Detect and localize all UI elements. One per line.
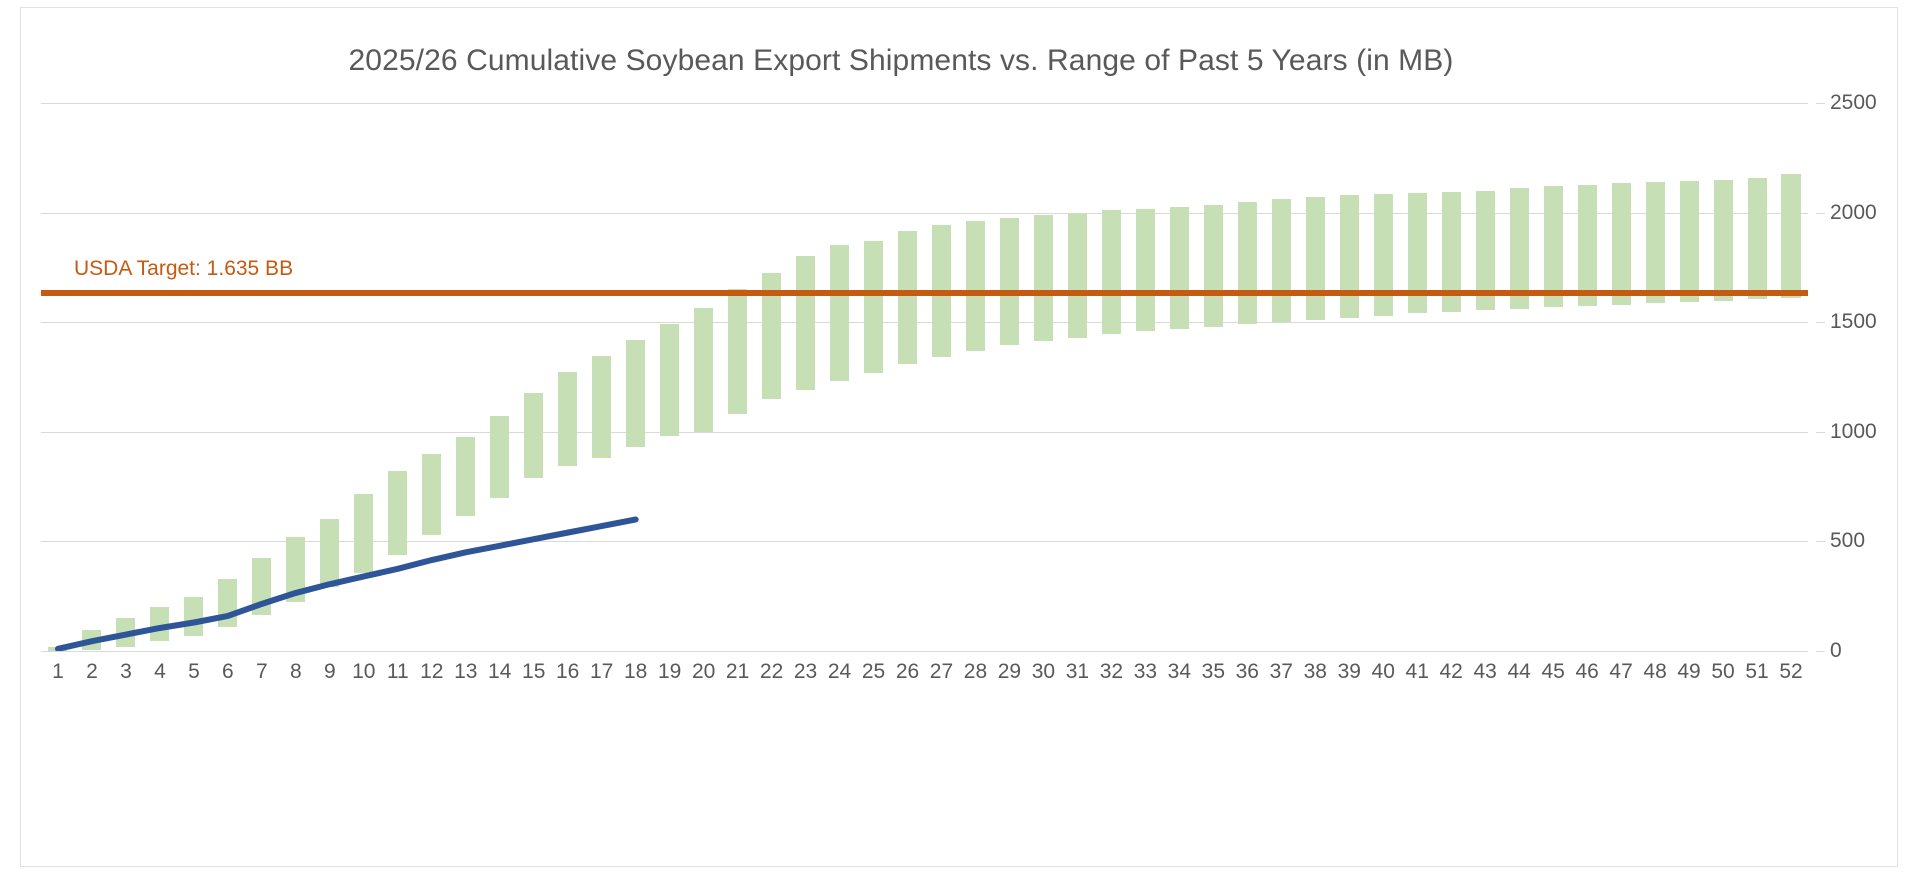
x-tick-label-week-11: 11 (387, 660, 409, 684)
x-tick-label-week-24: 24 (828, 660, 851, 684)
y-tick-mark-1000 (1816, 432, 1825, 433)
x-tick-label-week-46: 46 (1575, 660, 1598, 684)
x-tick-label-week-32: 32 (1100, 660, 1123, 684)
x-tick-label-week-19: 19 (658, 660, 681, 684)
x-tick-label-week-45: 45 (1541, 660, 1564, 684)
x-tick-label-week-33: 33 (1134, 660, 1157, 684)
x-tick-label-week-5: 5 (188, 660, 200, 684)
y-tick-label-0: 0 (1830, 639, 1842, 663)
x-tick-label-week-41: 41 (1406, 660, 1429, 684)
y-tick-label-2000: 2000 (1830, 201, 1877, 225)
x-tick-label-week-7: 7 (256, 660, 268, 684)
x-tick-label-week-51: 51 (1745, 660, 1768, 684)
x-tick-label-week-36: 36 (1236, 660, 1259, 684)
plot-area: USDA Target: 1.635 BB (41, 103, 1808, 651)
y-tick-label-2500: 2500 (1830, 91, 1877, 115)
x-tick-label-week-52: 52 (1779, 660, 1802, 684)
x-tick-label-week-42: 42 (1440, 660, 1463, 684)
x-tick-label-week-26: 26 (896, 660, 919, 684)
x-tick-label-week-15: 15 (522, 660, 545, 684)
x-tick-label-week-48: 48 (1643, 660, 1666, 684)
x-tick-label-week-21: 21 (726, 660, 749, 684)
x-tick-label-week-6: 6 (222, 660, 234, 684)
x-tick-label-week-2: 2 (86, 660, 98, 684)
x-tick-label-week-22: 22 (760, 660, 783, 684)
x-tick-label-week-37: 37 (1270, 660, 1293, 684)
x-tick-label-week-12: 12 (420, 660, 443, 684)
x-tick-label-week-27: 27 (930, 660, 953, 684)
x-tick-label-week-38: 38 (1304, 660, 1327, 684)
x-tick-label-week-47: 47 (1609, 660, 1632, 684)
chart-title: 2025/26 Cumulative Soybean Export Shipme… (21, 44, 1781, 78)
x-tick-label-week-13: 13 (454, 660, 477, 684)
y-tick-mark-500 (1816, 541, 1825, 542)
chart-card: 2025/26 Cumulative Soybean Export Shipme… (20, 7, 1898, 867)
x-tick-label-week-18: 18 (624, 660, 647, 684)
x-tick-label-week-40: 40 (1372, 660, 1395, 684)
x-tick-label-week-3: 3 (120, 660, 132, 684)
x-tick-label-week-25: 25 (862, 660, 885, 684)
x-tick-label-week-29: 29 (998, 660, 1021, 684)
cumulative-shipments-line-series (41, 103, 1808, 651)
x-tick-label-week-43: 43 (1473, 660, 1496, 684)
y-tick-label-500: 500 (1830, 529, 1865, 553)
x-tick-label-week-28: 28 (964, 660, 987, 684)
x-tick-label-week-23: 23 (794, 660, 817, 684)
shipments-polyline (58, 519, 636, 648)
x-tick-label-week-31: 31 (1066, 660, 1089, 684)
x-tick-label-week-17: 17 (590, 660, 613, 684)
x-tick-label-week-16: 16 (556, 660, 579, 684)
x-tick-label-week-39: 39 (1338, 660, 1361, 684)
x-tick-label-week-10: 10 (352, 660, 375, 684)
x-tick-label-week-9: 9 (324, 660, 336, 684)
shipments-line-svg (41, 103, 1808, 651)
y-tick-mark-0 (1816, 651, 1825, 652)
x-tick-label-week-44: 44 (1507, 660, 1530, 684)
x-tick-label-week-49: 49 (1677, 660, 1700, 684)
x-tick-label-week-20: 20 (692, 660, 715, 684)
x-tick-label-week-30: 30 (1032, 660, 1055, 684)
x-tick-label-week-34: 34 (1168, 660, 1191, 684)
y-tick-mark-2500 (1816, 103, 1825, 104)
x-axis-line (41, 651, 1808, 652)
x-tick-label-week-14: 14 (488, 660, 511, 684)
x-tick-label-week-4: 4 (154, 660, 166, 684)
x-tick-label-week-35: 35 (1202, 660, 1225, 684)
x-tick-label-week-8: 8 (290, 660, 302, 684)
y-tick-label-1000: 1000 (1830, 420, 1877, 444)
y-tick-mark-1500 (1816, 322, 1825, 323)
y-tick-label-1500: 1500 (1830, 310, 1877, 334)
x-axis: 1234567891011121314151617181920212223242… (41, 660, 1808, 700)
x-tick-label-week-50: 50 (1711, 660, 1734, 684)
x-tick-label-week-1: 1 (52, 660, 64, 684)
y-axis: 05001000150020002500 (1816, 103, 1906, 651)
y-tick-mark-2000 (1816, 213, 1825, 214)
